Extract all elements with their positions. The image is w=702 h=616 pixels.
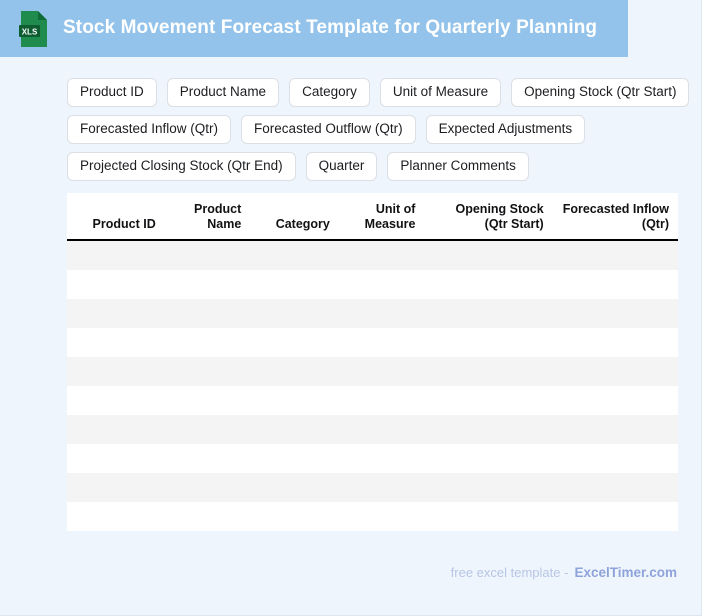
field-chip[interactable]: Quarter: [306, 152, 378, 181]
table-cell[interactable]: [250, 444, 339, 473]
table-cell[interactable]: [165, 473, 251, 502]
table-cell[interactable]: [165, 328, 251, 357]
table-cell[interactable]: [67, 270, 165, 299]
table-cell[interactable]: [67, 502, 165, 531]
table-cell[interactable]: [250, 415, 339, 444]
data-table-wrapper: Product ID Product Name Category Unit of…: [67, 193, 678, 531]
footer-note: free excel template -: [451, 565, 569, 580]
table-cell[interactable]: [67, 444, 165, 473]
table-cell[interactable]: [67, 415, 165, 444]
table-cell[interactable]: [250, 502, 339, 531]
table-cell[interactable]: [339, 328, 425, 357]
page-root: XLS Stock Movement Forecast Template for…: [0, 0, 702, 616]
table-cell[interactable]: [553, 270, 678, 299]
table-cell[interactable]: [165, 415, 251, 444]
column-header-product-id[interactable]: Product ID: [67, 193, 165, 240]
field-chip[interactable]: Unit of Measure: [380, 78, 501, 107]
header-bar: XLS Stock Movement Forecast Template for…: [0, 0, 628, 57]
table-cell[interactable]: [553, 240, 678, 270]
footer: free excel template - ExcelTimer.com: [451, 565, 677, 580]
field-chip[interactable]: Planner Comments: [387, 152, 529, 181]
table-body: [67, 240, 678, 531]
field-chip[interactable]: Product ID: [67, 78, 157, 107]
table-cell[interactable]: [67, 299, 165, 328]
table-cell[interactable]: [424, 473, 552, 502]
table-cell[interactable]: [67, 357, 165, 386]
field-chip[interactable]: Category: [289, 78, 370, 107]
table-cell[interactable]: [339, 240, 425, 270]
table-cell[interactable]: [165, 240, 251, 270]
table-cell[interactable]: [424, 240, 552, 270]
table-cell[interactable]: [67, 473, 165, 502]
table-cell[interactable]: [165, 357, 251, 386]
table-cell[interactable]: [424, 357, 552, 386]
table-row[interactable]: [67, 473, 678, 502]
table-cell[interactable]: [553, 473, 678, 502]
field-chip[interactable]: Opening Stock (Qtr Start): [511, 78, 689, 107]
table-cell[interactable]: [424, 502, 552, 531]
table-cell[interactable]: [339, 444, 425, 473]
page-title: Stock Movement Forecast Template for Qua…: [63, 18, 597, 39]
table-cell[interactable]: [165, 299, 251, 328]
table-cell[interactable]: [67, 328, 165, 357]
table-cell[interactable]: [250, 299, 339, 328]
table-cell[interactable]: [424, 444, 552, 473]
table-cell[interactable]: [67, 240, 165, 270]
table-cell[interactable]: [165, 444, 251, 473]
table-row[interactable]: [67, 299, 678, 328]
column-header-forecasted-inflow[interactable]: Forecasted Inflow (Qtr): [553, 193, 678, 240]
table-cell[interactable]: [339, 415, 425, 444]
table-cell[interactable]: [424, 299, 552, 328]
table-cell[interactable]: [339, 270, 425, 299]
table-cell[interactable]: [339, 357, 425, 386]
column-header-unit-of-measure[interactable]: Unit of Measure: [339, 193, 425, 240]
table-cell[interactable]: [165, 270, 251, 299]
column-header-category[interactable]: Category: [250, 193, 339, 240]
table-cell[interactable]: [553, 444, 678, 473]
field-chip[interactable]: Projected Closing Stock (Qtr End): [67, 152, 296, 181]
column-header-opening-stock[interactable]: Opening Stock (Qtr Start): [424, 193, 552, 240]
table-cell[interactable]: [250, 386, 339, 415]
table-row[interactable]: [67, 386, 678, 415]
table-row[interactable]: [67, 357, 678, 386]
table-cell[interactable]: [424, 328, 552, 357]
table-cell[interactable]: [67, 386, 165, 415]
table-cell[interactable]: [424, 415, 552, 444]
table-cell[interactable]: [250, 357, 339, 386]
table-cell[interactable]: [339, 502, 425, 531]
table-header: Product ID Product Name Category Unit of…: [67, 193, 678, 240]
table-cell[interactable]: [424, 270, 552, 299]
table-row[interactable]: [67, 415, 678, 444]
xls-file-icon: XLS: [19, 10, 49, 48]
table-cell[interactable]: [250, 270, 339, 299]
table-row[interactable]: [67, 240, 678, 270]
field-chip-list: Product ID Product Name Category Unit of…: [67, 78, 691, 181]
table-cell[interactable]: [553, 502, 678, 531]
table-row[interactable]: [67, 444, 678, 473]
field-chip[interactable]: Forecasted Outflow (Qtr): [241, 115, 416, 144]
table-row[interactable]: [67, 270, 678, 299]
field-chip[interactable]: Product Name: [167, 78, 279, 107]
table-row[interactable]: [67, 502, 678, 531]
table-cell[interactable]: [553, 386, 678, 415]
field-chip[interactable]: Forecasted Inflow (Qtr): [67, 115, 231, 144]
table-cell[interactable]: [250, 240, 339, 270]
table-header-row: Product ID Product Name Category Unit of…: [67, 193, 678, 240]
table-cell[interactable]: [553, 415, 678, 444]
table-cell[interactable]: [339, 299, 425, 328]
table-row[interactable]: [67, 328, 678, 357]
table-cell[interactable]: [553, 299, 678, 328]
table-cell[interactable]: [250, 473, 339, 502]
svg-text:XLS: XLS: [22, 27, 38, 36]
table-cell[interactable]: [553, 357, 678, 386]
column-header-product-name[interactable]: Product Name: [165, 193, 251, 240]
table-cell[interactable]: [165, 386, 251, 415]
table-cell[interactable]: [339, 386, 425, 415]
data-table: Product ID Product Name Category Unit of…: [67, 193, 678, 531]
table-cell[interactable]: [250, 328, 339, 357]
table-cell[interactable]: [165, 502, 251, 531]
footer-brand-link[interactable]: ExcelTimer.com: [574, 565, 677, 580]
table-cell[interactable]: [424, 386, 552, 415]
field-chip[interactable]: Expected Adjustments: [426, 115, 586, 144]
table-cell[interactable]: [339, 473, 425, 502]
table-cell[interactable]: [553, 328, 678, 357]
